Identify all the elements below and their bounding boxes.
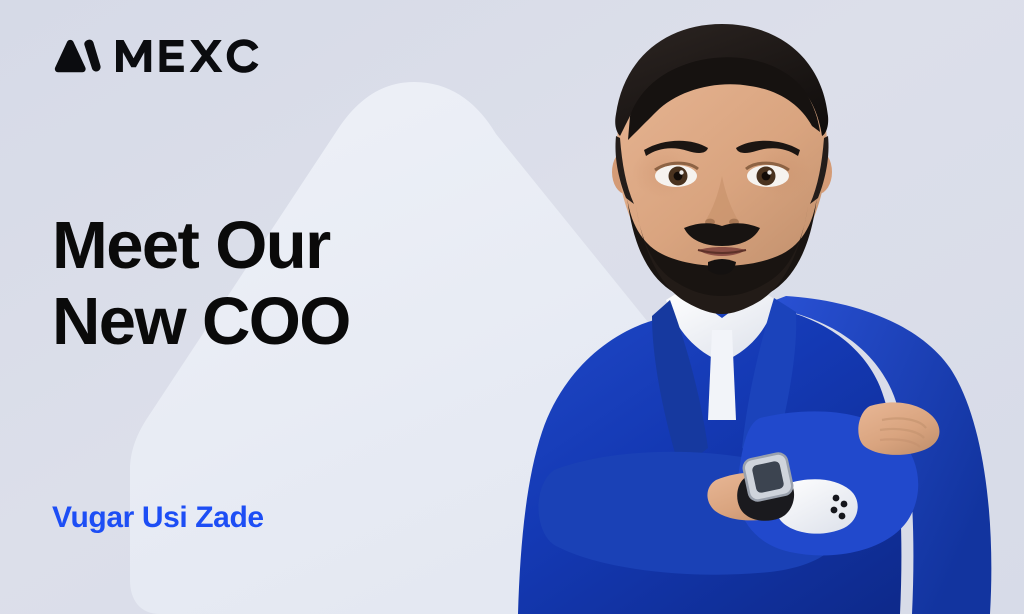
portrait-photo [430, 0, 1024, 614]
mexc-announcement-banner: Meet Our New COO Vugar Usi Zade [0, 0, 1024, 614]
mexc-mountain-mark-icon [52, 38, 102, 74]
mexc-logo[interactable] [52, 38, 259, 74]
mexc-wordmark [116, 39, 259, 73]
headline: Meet Our New COO [52, 208, 350, 361]
person-name: Vugar Usi Zade [52, 503, 264, 533]
